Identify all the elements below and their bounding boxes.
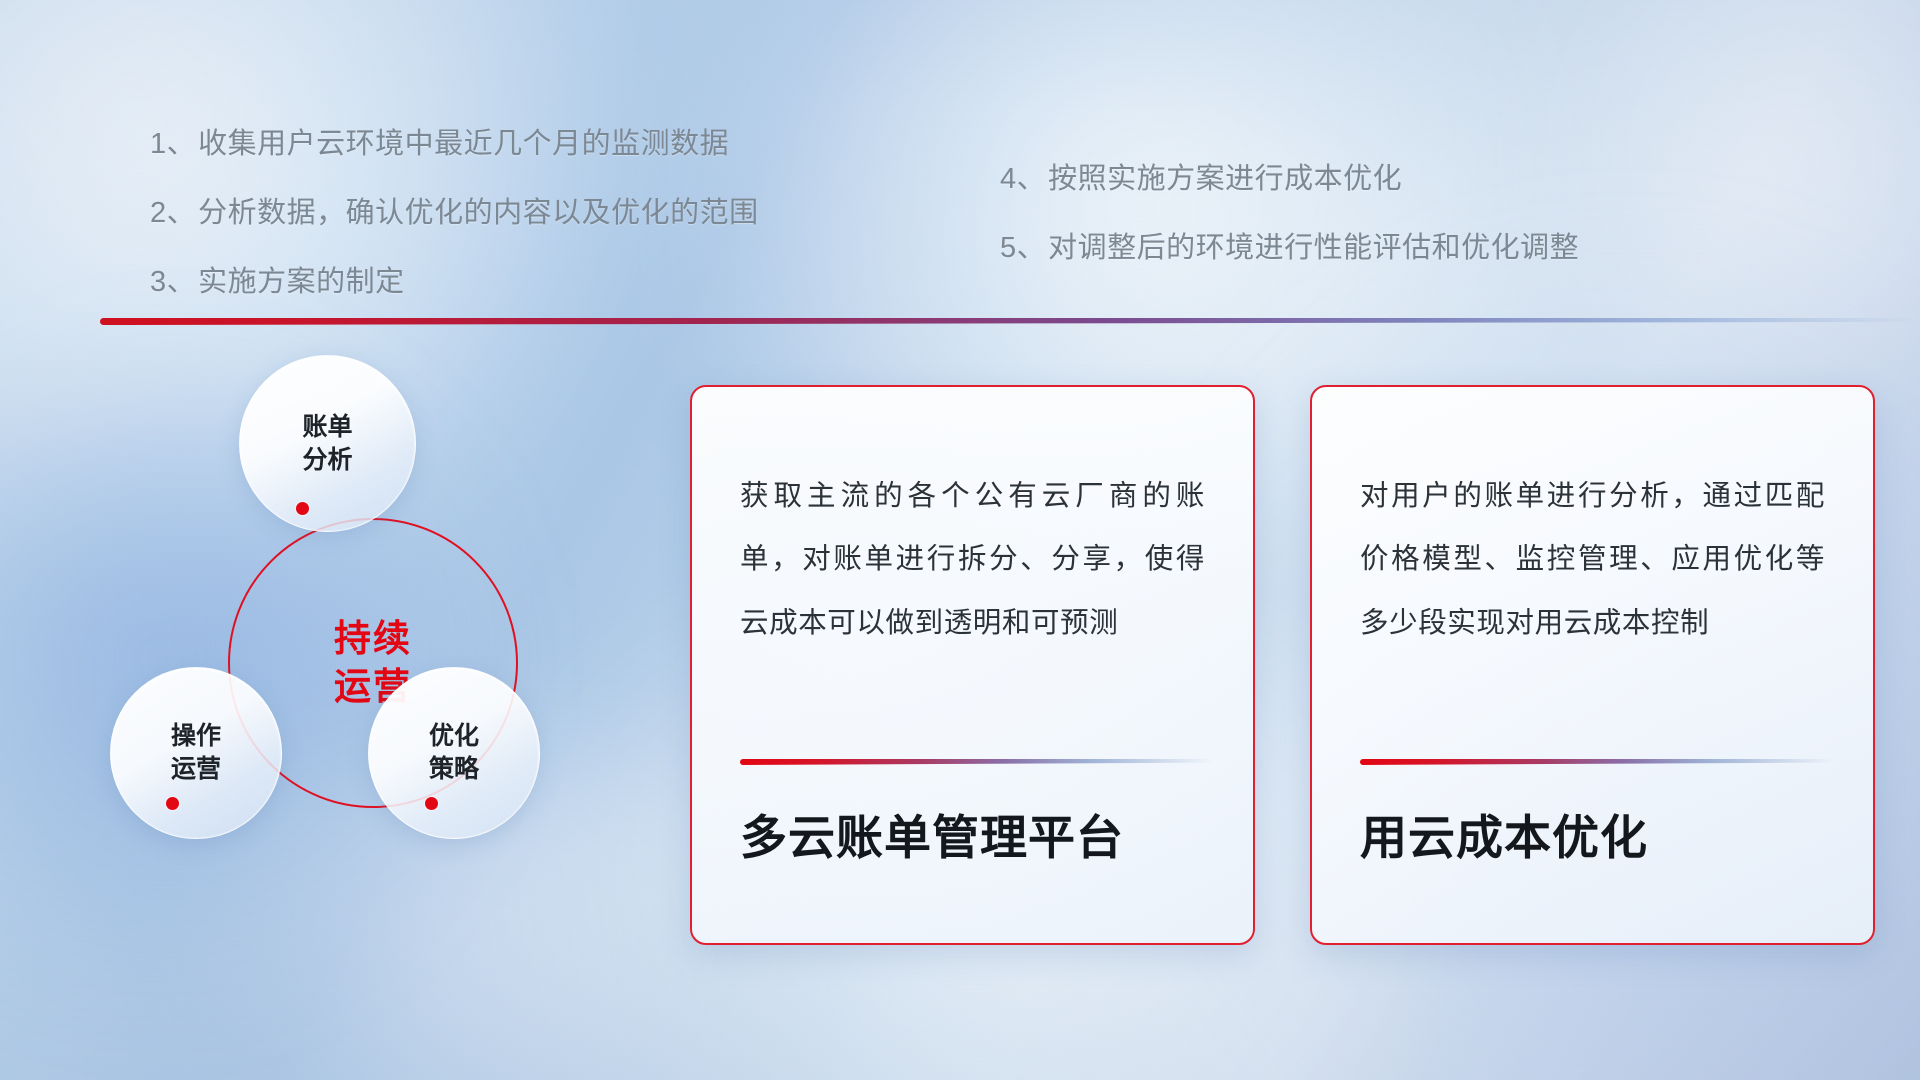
venn-bubble-label-line-2: 策略 bbox=[429, 753, 479, 786]
venn-bubble-billing-analysis[interactable]: 账单 分析 bbox=[239, 355, 416, 532]
venn-node-dot-bottom-left bbox=[166, 797, 179, 810]
step-item-3: 3、 实施方案的制定 bbox=[150, 258, 759, 300]
venn-bubble-optimization-strategy[interactable]: 优化 策略 bbox=[368, 667, 540, 839]
step-item-4: 4、 按照实施方案进行成本优化 bbox=[1000, 155, 1579, 197]
card-body-text: 获取主流的各个公有云厂商的账单，对账单进行拆分、分享，使得云成本可以做到透明和可… bbox=[740, 465, 1205, 655]
card-title: 多云账单管理平台 bbox=[740, 799, 1124, 868]
venn-center-label-line-1: 持续 bbox=[334, 615, 412, 663]
step-text: 对调整后的环境进行性能评估和优化调整 bbox=[1048, 224, 1579, 266]
venn-diagram: 持续 运营 账单 分析 操作 运营 优化 策略 bbox=[95, 355, 635, 955]
step-item-2: 2、 分析数据，确认优化的内容以及优化的范围 bbox=[150, 189, 759, 231]
venn-node-dot-top bbox=[296, 502, 309, 515]
step-text: 收集用户云环境中最近几个月的监测数据 bbox=[198, 120, 729, 162]
step-text: 分析数据，确认优化的内容以及优化的范围 bbox=[198, 189, 759, 231]
venn-bubble-label-line-1: 账单 bbox=[302, 411, 352, 444]
step-text: 实施方案的制定 bbox=[198, 258, 405, 300]
card-body-text: 对用户的账单进行分析，通过匹配价格模型、监控管理、应用优化等多少段实现对用云成本… bbox=[1360, 465, 1825, 655]
venn-bubble-label-line-1: 操作 bbox=[171, 720, 221, 753]
card-cloud-cost-optimization[interactable]: 对用户的账单进行分析，通过匹配价格模型、监控管理、应用优化等多少段实现对用云成本… bbox=[1310, 385, 1875, 945]
step-number: 2、 bbox=[150, 189, 196, 231]
step-number: 3、 bbox=[150, 258, 196, 300]
steps-right-column: 4、 按照实施方案进行成本优化 5、 对调整后的环境进行性能评估和优化调整 bbox=[1000, 155, 1579, 293]
step-number: 4、 bbox=[1000, 155, 1046, 197]
card-accent-rule bbox=[1360, 759, 1833, 765]
card-multicloud-billing-platform[interactable]: 获取主流的各个公有云厂商的账单，对账单进行拆分、分享，使得云成本可以做到透明和可… bbox=[690, 385, 1255, 945]
venn-bubble-label-line-1: 优化 bbox=[429, 720, 479, 753]
step-number: 5、 bbox=[1000, 224, 1046, 266]
step-item-5: 5、 对调整后的环境进行性能评估和优化调整 bbox=[1000, 224, 1579, 266]
card-title: 用云成本优化 bbox=[1360, 799, 1648, 868]
venn-bubble-label-line-2: 运营 bbox=[171, 753, 221, 786]
venn-bubble-label-line-2: 分析 bbox=[302, 444, 352, 477]
venn-bubble-operations[interactable]: 操作 运营 bbox=[110, 667, 282, 839]
step-text: 按照实施方案进行成本优化 bbox=[1048, 155, 1402, 197]
step-number: 1、 bbox=[150, 120, 196, 162]
steps-left-column: 1、 收集用户云环境中最近几个月的监测数据 2、 分析数据，确认优化的内容以及优… bbox=[150, 120, 759, 327]
venn-node-dot-bottom-right bbox=[425, 797, 438, 810]
card-accent-rule bbox=[740, 759, 1213, 765]
step-item-1: 1、 收集用户云环境中最近几个月的监测数据 bbox=[150, 120, 759, 162]
